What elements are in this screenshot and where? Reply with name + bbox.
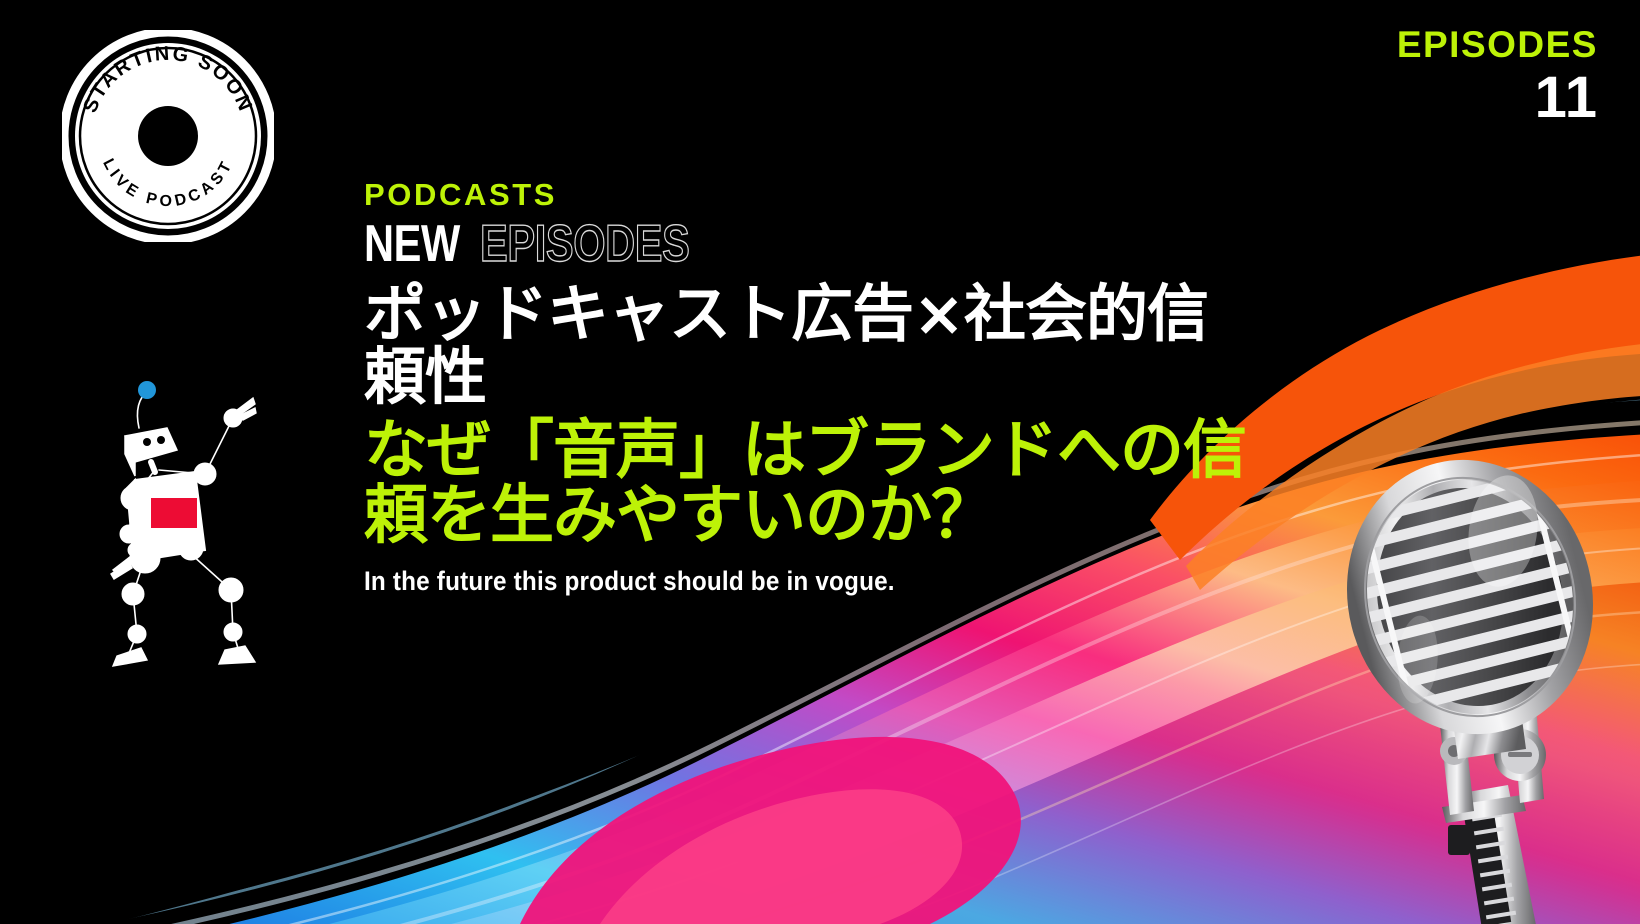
episode-counter-number: 11 <box>1397 69 1598 127</box>
robot-antenna-ball <box>138 381 156 399</box>
page-subtitle: なぜ「音声」はブランドへの信頼を生みやすいのか？ <box>364 419 1304 551</box>
kicker-label: PODCASTS <box>364 178 1324 212</box>
robot-chest-panel <box>151 498 197 528</box>
mic-clamp-knob <box>1448 825 1470 855</box>
tagline-text: In the future this product should be in … <box>364 566 1228 597</box>
copy-block: PODCASTS NEWEPISODES ポッドキャスト広告×社会的信頼性 なぜ… <box>364 178 1324 597</box>
wave-magenta-lobe <box>520 737 1021 924</box>
eyebrow-episodes-label: EPISODES <box>480 218 690 270</box>
eyebrow-new-label: NEW <box>364 218 460 270</box>
robot-torso <box>127 472 205 560</box>
eyebrow-row: NEWEPISODES <box>364 218 1324 270</box>
poster-canvas: STARTING SOON LIVE PODCAST <box>0 0 1640 924</box>
starting-soon-badge: STARTING SOON LIVE PODCAST <box>62 30 274 242</box>
mic-head <box>1325 455 1620 750</box>
episode-counter: EPISODES 11 <box>1397 26 1598 127</box>
robot-mascot-icon <box>55 358 265 668</box>
episode-counter-label: EPISODES <box>1397 26 1598 63</box>
robot-feet <box>113 646 255 666</box>
page-title: ポッドキャスト広告×社会的信頼性 <box>364 282 1244 408</box>
retro-microphone-icon <box>1322 455 1640 924</box>
